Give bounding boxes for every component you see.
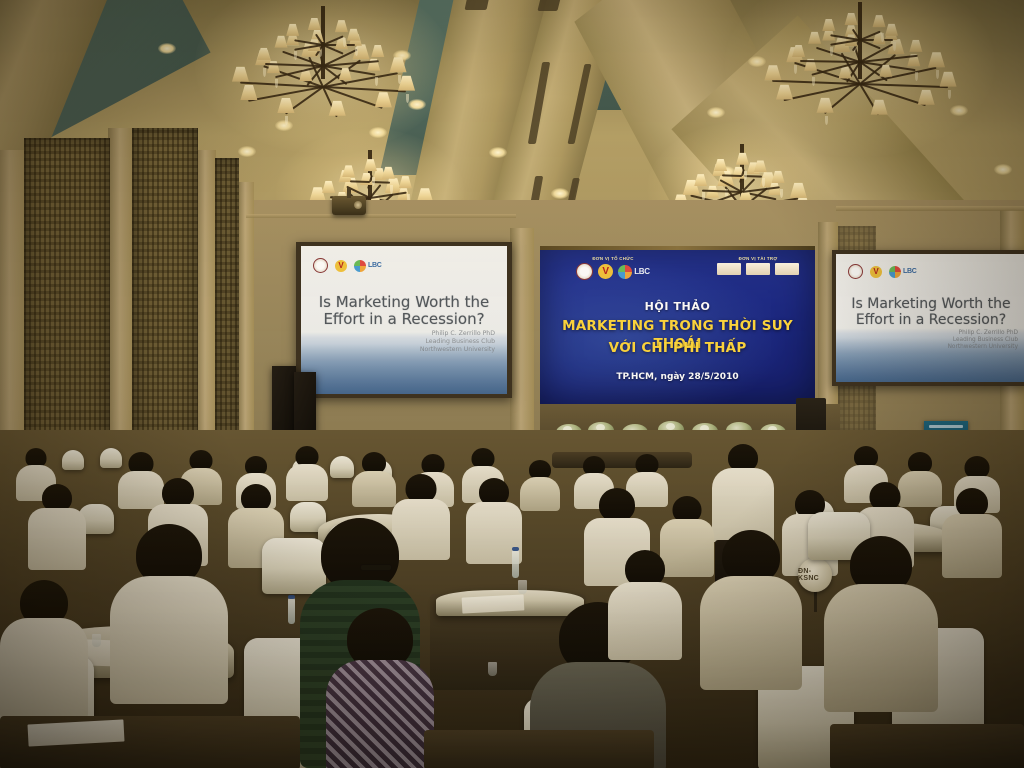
lbc-logo: LBC (889, 266, 917, 278)
textured-wall-panel (24, 138, 110, 476)
chandelier-lampshade (909, 40, 922, 52)
person-body (286, 464, 328, 501)
audience-member (608, 550, 682, 660)
eyeglasses (360, 564, 392, 571)
chandelier-front-right (760, 2, 960, 126)
lbc-logo-text: LBC (903, 268, 917, 275)
table (552, 452, 692, 468)
chandelier-crystal (936, 70, 939, 79)
slide-title: Is Marketing Worth the Effort in a Reces… (309, 294, 499, 329)
chandelier-crystal (812, 77, 815, 86)
person-body (110, 576, 228, 704)
drinking-glass (518, 580, 527, 594)
person-head (599, 488, 635, 522)
ceiling-vent (537, 0, 560, 11)
slide-title-line2: Effort in a Recession? (309, 311, 499, 328)
lbc-logo: LBC (618, 265, 650, 279)
foreground-attendee-patterned-top (326, 608, 434, 768)
drinking-glass (488, 662, 497, 676)
chandelier-lampshade (399, 176, 412, 188)
chandelier-crystal (263, 68, 266, 77)
ceiling-vent (465, 0, 490, 10)
chandelier-lampshade (308, 18, 321, 30)
handout-paper (462, 594, 525, 613)
sponsor-logo-2 (746, 263, 770, 275)
audience-member (286, 446, 328, 500)
banner-main-line2: VỚI CHI PHÍ THẤP (540, 340, 815, 358)
conference-photo: V LBC Is Marketing Worth the Effort in a… (0, 0, 1024, 768)
sponsor-logo-1 (717, 263, 741, 275)
chandelier-crystal (825, 116, 828, 125)
slide-title-line2: Effort in a Recession? (842, 312, 1020, 328)
chandelier-lampshade (790, 183, 807, 198)
chandelier-crystal (398, 75, 401, 84)
chandelier-crystal (744, 171, 747, 180)
v-award-logo: V (598, 264, 613, 279)
chandelier-lampshade (845, 13, 858, 25)
loudspeaker (272, 366, 296, 438)
textured-wall-panel (132, 128, 198, 476)
projector-mount (347, 188, 351, 198)
recessed-downlight (489, 147, 507, 158)
chandelier-lampshade (754, 160, 767, 172)
wall-trim (246, 214, 516, 218)
audience-area: ĐN-KSNC (0, 430, 1024, 768)
chandelier-lampshade (335, 20, 348, 32)
chandelier-lampshade (918, 90, 935, 105)
sign-text-line (929, 425, 963, 428)
slide-title-line1: Is Marketing Worth the (842, 296, 1020, 312)
seal-logo (576, 263, 593, 280)
person-body (824, 584, 938, 712)
chandelier-lampshade (275, 36, 288, 48)
table (830, 724, 1024, 768)
lbc-logo-text: LBC (368, 262, 382, 269)
textured-wall-panel (215, 158, 239, 468)
slide-title: Is Marketing Worth the Effort in a Reces… (842, 296, 1020, 328)
chandelier-crystal (948, 90, 951, 99)
person-body (352, 471, 396, 507)
chandelier-lampshade (772, 171, 785, 183)
banner-heading: HỘI THẢO (540, 300, 815, 313)
foreground-attendee-white-shirt (110, 524, 228, 704)
chandelier-lampshade (792, 45, 805, 57)
chandelier-lampshade (322, 181, 335, 193)
wall-trim (836, 206, 1024, 211)
chandelier-lampshade (277, 98, 294, 113)
foreground-attendee-cream (700, 530, 802, 690)
chandelier-crystal (285, 116, 288, 125)
event-banner: ĐƠN VỊ TỔ CHỨC V LBC ĐƠN VỊ TÀI TRỢ HỘI … (540, 246, 815, 404)
chandelier-front-left (228, 6, 418, 124)
chandelier-lampshade (694, 174, 707, 186)
slide-presenter-name: Philip C. Zerrillo PhD (854, 330, 1018, 337)
table (424, 730, 654, 768)
chandelier-lampshade (385, 178, 402, 193)
chandelier-lampshade (871, 100, 888, 115)
chandelier-lampshade (347, 29, 360, 41)
water-bottle (288, 598, 295, 624)
chandelier-lampshade (736, 153, 749, 165)
drinking-glass (92, 634, 101, 647)
audience-member (520, 460, 560, 510)
chandelier-lampshade (808, 32, 821, 44)
chandelier-lampshade (714, 159, 727, 171)
recessed-downlight (994, 164, 1012, 175)
lbc-logo-text: LBC (634, 267, 650, 276)
chandelier-lampshade (240, 85, 257, 100)
person-body (326, 660, 434, 768)
chandelier-lampshade (342, 165, 355, 177)
projector-lens (354, 201, 362, 209)
loudspeaker (294, 372, 316, 438)
chandelier-lampshade (398, 76, 415, 91)
recessed-downlight (707, 107, 725, 118)
chair (62, 450, 84, 470)
slide-logo-row: V LBC (848, 264, 917, 279)
chandelier-crystal (406, 94, 409, 103)
recessed-downlight (369, 127, 387, 138)
chandelier-lampshade (764, 65, 781, 80)
chandelier-lampshade (286, 24, 299, 36)
chandelier-lampshade (873, 15, 886, 27)
chandelier-lampshade (817, 98, 834, 113)
chandelier-crystal (915, 72, 918, 81)
ceiling-projector (332, 196, 366, 215)
banner-date: TP.HCM, ngày 28/5/2010 (540, 372, 815, 382)
person-body (608, 582, 682, 660)
left-projection-screen: V LBC Is Marketing Worth the Effort in a… (301, 246, 507, 394)
chandelier-crystal (390, 185, 393, 194)
lbc-logo: LBC (354, 260, 382, 272)
recessed-downlight (238, 146, 256, 157)
chandelier-lampshade (822, 19, 835, 31)
organizer-label: ĐƠN VỊ TỔ CHỨC (558, 256, 668, 261)
chandelier-crystal (294, 51, 297, 60)
chandelier-crystal (893, 42, 896, 51)
audience-member (352, 452, 396, 506)
person-body (942, 514, 1002, 578)
slide-presenter-name: Philip C. Zerrillo PhD (323, 330, 495, 338)
lbc-logo-mark (618, 265, 632, 279)
chandelier-crystal (780, 189, 783, 198)
audience-member (942, 488, 1002, 576)
bottle-cap (512, 547, 519, 551)
seal-logo (313, 258, 328, 273)
v-award-logo: V (870, 266, 882, 278)
sponsor-logo-row (708, 263, 808, 275)
audience-member (0, 580, 88, 720)
wall-pillar (108, 128, 134, 478)
chandelier-crystal (794, 65, 797, 74)
organizer-logo-row: V LBC (558, 263, 668, 280)
sponsor-group: ĐƠN VỊ TÀI TRỢ (708, 256, 808, 275)
organizer-group: ĐƠN VỊ TỔ CHỨC V LBC (558, 256, 668, 280)
screen-gradient (301, 344, 507, 394)
right-projection-screen: V LBC Is Marketing Worth the Effort in a… (836, 254, 1024, 382)
recessed-downlight (158, 43, 176, 54)
chandelier-crystal (343, 38, 346, 47)
slide-title-line1: Is Marketing Worth the (309, 294, 499, 311)
slide-logo-row: V LBC (313, 258, 382, 273)
chandelier-lampshade (928, 52, 945, 67)
screen-gradient (836, 338, 1024, 382)
seal-logo (848, 264, 863, 279)
person-body (700, 576, 802, 690)
chandelier-lampshade (364, 159, 377, 171)
lbc-logo-mark (889, 266, 901, 278)
chandelier-crystal (355, 47, 358, 56)
person-body (0, 618, 88, 720)
recessed-downlight (551, 188, 569, 199)
chandelier-crystal (275, 79, 278, 88)
water-bottle (512, 550, 519, 578)
stage-flower-bloom (666, 423, 675, 430)
chandelier-lampshade (885, 24, 898, 36)
sponsor-logo-3 (775, 263, 799, 275)
chair (330, 456, 354, 478)
chandelier-lampshade (257, 48, 270, 60)
chandelier-lampshade (390, 57, 407, 72)
chandelier-crystal (375, 77, 378, 86)
audience-member (28, 484, 86, 568)
chandelier-crystal (881, 33, 884, 42)
person-body (28, 508, 86, 570)
chandelier-lampshade (382, 167, 395, 179)
chandelier-crystal (372, 177, 375, 186)
wall-pillar (510, 228, 534, 438)
sponsor-label: ĐƠN VỊ TÀI TRỢ (708, 256, 808, 261)
chandelier-lampshade (371, 45, 384, 57)
chandelier-lampshade (776, 85, 793, 100)
bottle-cap (288, 595, 295, 599)
v-award-logo: V (335, 260, 347, 272)
person-body (520, 477, 560, 511)
chandelier-arm (722, 174, 742, 177)
chandelier-lampshade (940, 72, 957, 87)
chandelier-lampshade (232, 67, 249, 82)
lbc-logo-mark (354, 260, 366, 272)
wall-pillar (238, 182, 254, 462)
chandelier-lampshade (375, 92, 392, 107)
foreground-attendee-light-shirt (824, 536, 938, 712)
banner-top-trim (540, 246, 815, 250)
